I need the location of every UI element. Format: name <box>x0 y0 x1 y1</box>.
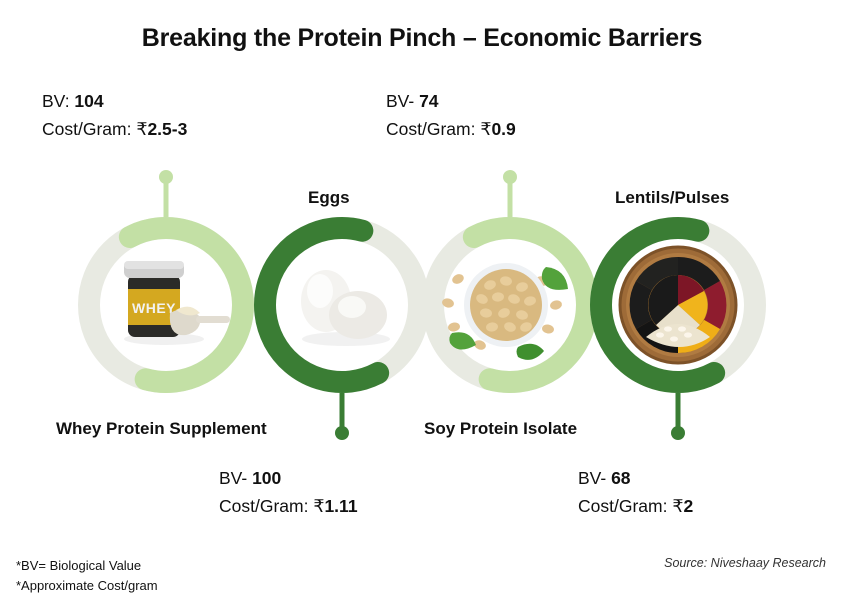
cost-value-eggs: 1.11 <box>324 496 357 516</box>
page-title: Breaking the Protein Pinch – Economic Ba… <box>0 24 844 53</box>
source-attribution: Source: Niveshaay Research <box>664 556 826 570</box>
cost-label-soy: Cost/Gram: ₹ <box>386 119 491 139</box>
node-caption-whey: Whey Protein Supplement <box>56 419 267 439</box>
bv-label-eggs: BV- <box>219 468 252 488</box>
cost-value-lentils: 2 <box>683 496 693 516</box>
footnotes: *BV= Biological Value *Approximate Cost/… <box>16 556 158 596</box>
cost-row-soy: Cost/Gram: ₹0.9 <box>386 115 516 143</box>
node-caption-eggs: Eggs <box>308 188 350 208</box>
cost-value-whey: 2.5-3 <box>147 119 187 139</box>
bv-label-lentils: BV- <box>578 468 611 488</box>
bv-row-whey: BV: 104 <box>42 87 187 115</box>
bv-row-lentils: BV- 68 <box>578 464 693 492</box>
bv-row-soy: BV- 74 <box>386 87 516 115</box>
bv-row-eggs: BV- 100 <box>219 464 358 492</box>
bv-label-soy: BV- <box>386 91 419 111</box>
soybean-bowl-icon <box>441 263 568 360</box>
bv-value-eggs: 100 <box>252 468 281 488</box>
cost-value-soy: 0.9 <box>491 119 515 139</box>
bv-value-soy: 74 <box>419 91 438 111</box>
lentils-bowl-icon <box>620 247 736 363</box>
whey-protein-jar-icon: WHEY <box>124 261 230 345</box>
cost-row-eggs: Cost/Gram: ₹1.11 <box>219 492 358 520</box>
cost-label-eggs: Cost/Gram: ₹ <box>219 496 324 516</box>
footnote-bv: *BV= Biological Value <box>16 556 158 576</box>
cost-row-whey: Cost/Gram: ₹2.5-3 <box>42 115 187 143</box>
stat-block-whey: BV: 104 Cost/Gram: ₹2.5-3 <box>42 87 187 143</box>
ring-whey: WHEY <box>78 217 254 393</box>
svg-text:WHEY: WHEY <box>132 300 176 316</box>
ring-eggs <box>254 217 430 393</box>
eggs-icon <box>301 270 390 346</box>
stat-block-soy: BV- 74 Cost/Gram: ₹0.9 <box>386 87 516 143</box>
bv-label-whey: BV: <box>42 91 74 111</box>
cost-label-lentils: Cost/Gram: ₹ <box>578 496 683 516</box>
connector-dot-soy <box>503 170 517 184</box>
stat-block-lentils: BV- 68 Cost/Gram: ₹2 <box>578 464 693 520</box>
node-caption-soy: Soy Protein Isolate <box>424 419 577 439</box>
footnote-cost: *Approximate Cost/gram <box>16 576 158 596</box>
infographic-canvas: Breaking the Protein Pinch – Economic Ba… <box>0 0 844 596</box>
cost-label-whey: Cost/Gram: ₹ <box>42 119 147 139</box>
bv-value-lentils: 68 <box>611 468 630 488</box>
bv-value-whey: 104 <box>74 91 103 111</box>
ring-soy <box>422 217 598 393</box>
connector-dot-whey <box>159 170 173 184</box>
stat-block-eggs: BV- 100 Cost/Gram: ₹1.11 <box>219 464 358 520</box>
connector-dot-lentils <box>671 426 685 440</box>
ring-lentils <box>590 217 766 393</box>
cost-row-lentils: Cost/Gram: ₹2 <box>578 492 693 520</box>
connector-dot-eggs <box>335 426 349 440</box>
node-caption-lentils: Lentils/Pulses <box>615 188 729 208</box>
